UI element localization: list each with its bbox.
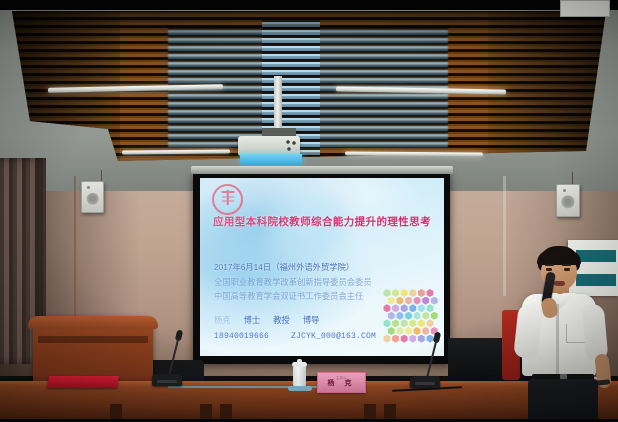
microphone-gooseneck [426, 341, 437, 378]
name-card: 主讲人 杨 克 [317, 372, 366, 393]
wall-corner-left [74, 176, 76, 316]
speaker-mouth [554, 281, 565, 286]
tea-cup [293, 366, 306, 388]
name-card-header: 主讲人 [318, 375, 365, 380]
ceiling-region [0, 9, 618, 191]
photograph-lecture-hall: 应用型本科院校教师综合能力提升的理性思考 2017年6月14日（福州外语外贸学院… [0, 0, 618, 422]
photo-corner-notch [560, 0, 610, 17]
microphone-base [410, 376, 440, 388]
tweeter [563, 189, 566, 192]
speaker-trousers [528, 379, 598, 422]
wall-speaker-left [81, 181, 104, 213]
podium-top-surface [28, 316, 158, 329]
projector-lens-glow [240, 154, 302, 165]
speaker-eyebrow [562, 264, 571, 266]
woofer-cone [561, 195, 574, 208]
presenting-speaker [508, 246, 616, 422]
podium-panel-band [38, 336, 148, 343]
wall-speaker-right [556, 184, 580, 217]
projector-mount-pole [274, 76, 282, 134]
screen-glare [200, 178, 444, 356]
projector-controls [284, 138, 298, 154]
speaker-right-arm [582, 303, 609, 361]
desk-microphone-right [410, 338, 446, 388]
woofer-cone [86, 192, 99, 205]
projection-screen: 应用型本科院校教师综合能力提升的理性思考 2017年6月14日（福州外语外贸学院… [200, 178, 444, 356]
red-document-folder [47, 376, 119, 388]
speaker-eyebrow [545, 264, 554, 266]
microphone-gooseneck [168, 339, 179, 376]
cup-saucer [288, 386, 312, 391]
microphone-base [152, 374, 182, 386]
desk-microphone-left [152, 330, 188, 386]
screen-roller-casing [191, 166, 453, 174]
speaker-hair-front [537, 250, 581, 265]
speaker-eye [564, 268, 570, 271]
photo-top-border [0, 0, 618, 10]
cup-lid [292, 362, 307, 367]
wall-corner-right [503, 176, 506, 296]
speaker-eye [546, 268, 552, 271]
tweeter [87, 186, 90, 189]
